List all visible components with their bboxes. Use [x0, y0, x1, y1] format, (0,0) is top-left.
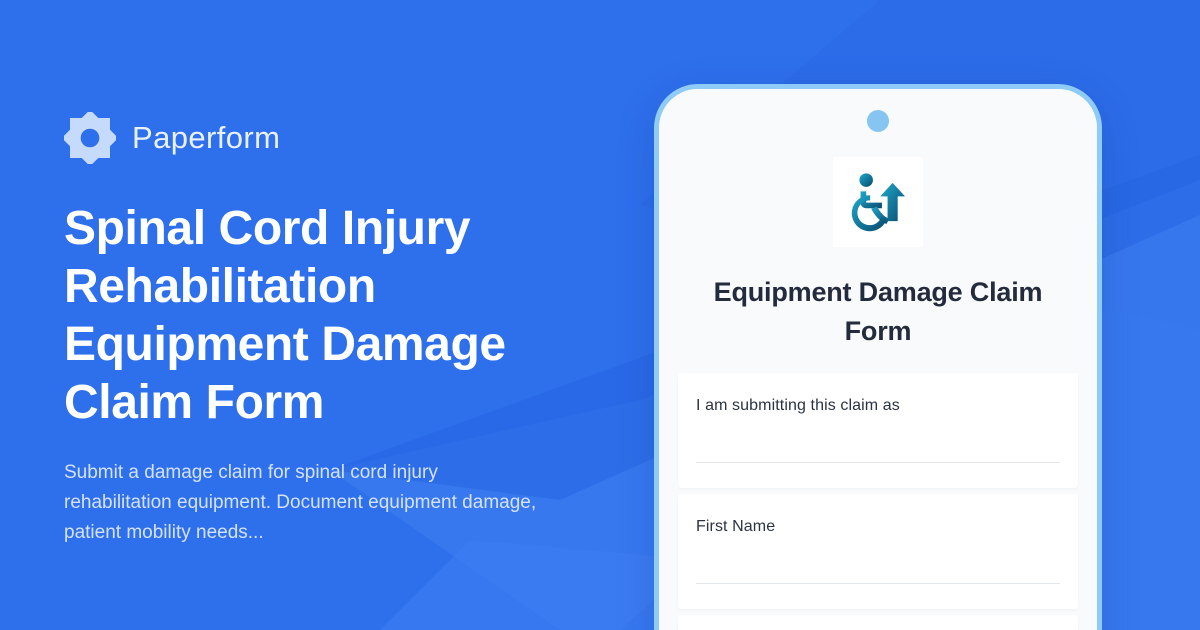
field-underline: [696, 462, 1060, 463]
phone-mockup: Equipment Damage Claim Form I am submitt…: [654, 84, 1102, 630]
page-title: Spinal Cord Injury Rehabilitation Equipm…: [64, 200, 564, 432]
form-field-first-name[interactable]: First Name: [678, 494, 1078, 609]
phone-screen: Equipment Damage Claim Form I am submitt…: [659, 89, 1097, 630]
field-label: I am submitting this claim as: [696, 397, 1060, 415]
page-subtitle: Submit a damage claim for spinal cord in…: [64, 458, 544, 548]
form-field-claim-role[interactable]: I am submitting this claim as: [678, 373, 1078, 488]
form-icon-tile: [833, 157, 923, 247]
paperform-star-logo-icon: [64, 112, 116, 164]
hero-content: Paperform Spinal Cord Injury Rehabilitat…: [64, 112, 604, 548]
form-title: Equipment Damage Claim Form: [695, 273, 1061, 351]
field-underline: [696, 583, 1060, 584]
camera-dot: [867, 110, 889, 132]
form-fields-list: I am submitting this claim as First Name…: [678, 373, 1078, 630]
brand-lockup: Paperform: [64, 112, 604, 164]
form-field-last-name[interactable]: Last Name: [678, 615, 1078, 630]
wheelchair-accessibility-up-arrow-icon: [842, 166, 914, 238]
field-label: First Name: [696, 518, 1060, 536]
brand-name: Paperform: [132, 120, 280, 156]
